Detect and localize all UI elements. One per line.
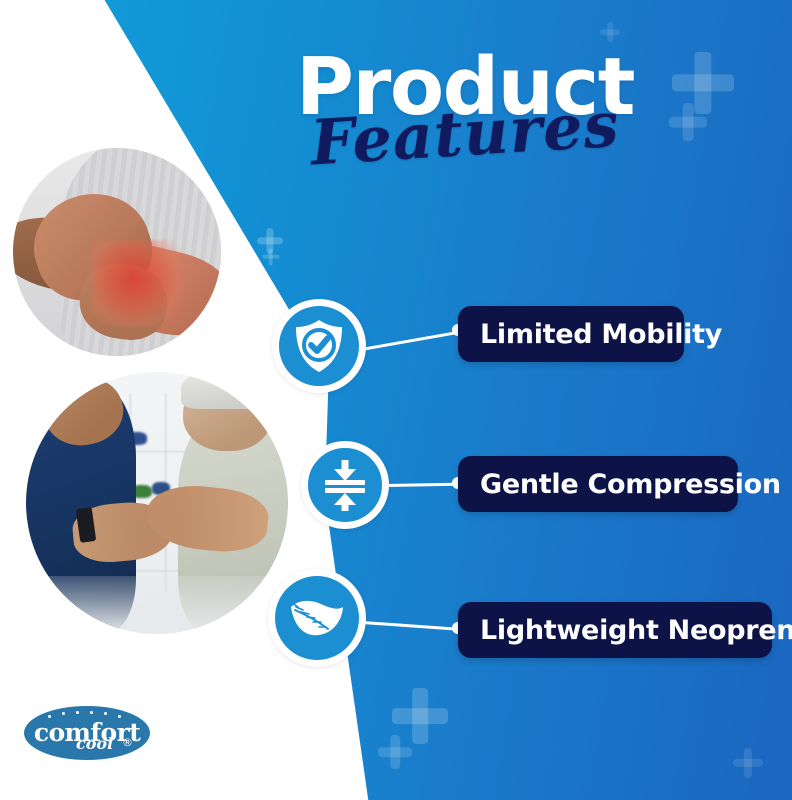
brand-logo[interactable]: comfort cool ® <box>24 706 150 760</box>
feature-pill-2[interactable]: Gentle Compression <box>458 456 738 512</box>
product-features-poster: Product Features <box>0 0 792 800</box>
feature-label-1: Limited Mobility <box>480 319 722 350</box>
feather-icon <box>288 597 346 639</box>
compression-arrows-icon <box>321 459 369 511</box>
shield-check-icon <box>294 319 344 373</box>
photo-patient-hair <box>181 372 270 409</box>
feature-icon-2 <box>301 441 389 529</box>
logo-registered-mark: ® <box>122 736 133 749</box>
logo-sub-text: cool <box>76 736 113 752</box>
feature-icon-3 <box>268 569 366 667</box>
photo-floor <box>26 576 288 634</box>
photo-pain-highlight <box>92 240 184 327</box>
feature-pill-1[interactable]: Limited Mobility <box>458 306 684 362</box>
feature-pill-3[interactable]: Lightweight Neoprene <box>458 602 772 658</box>
feature-label-3: Lightweight Neoprene <box>480 615 792 646</box>
elbow-pain-photo <box>13 148 221 356</box>
feature-icon-1 <box>272 299 366 393</box>
clinic-therapy-photo <box>26 372 288 634</box>
feature-label-2: Gentle Compression <box>480 469 781 500</box>
